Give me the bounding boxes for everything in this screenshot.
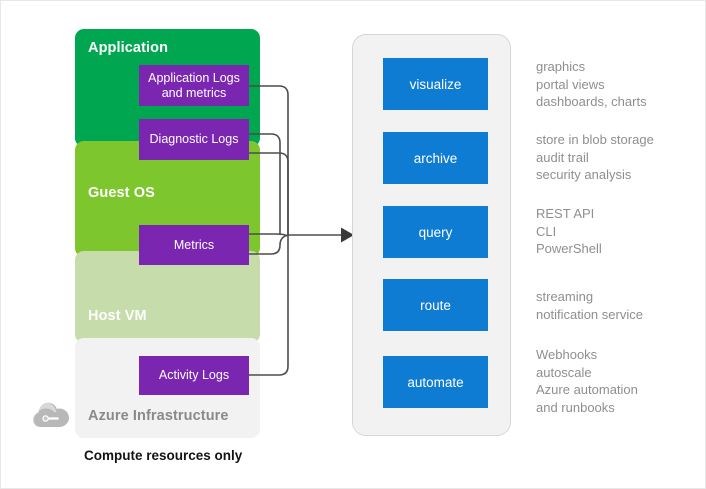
source-box-application-logs-label: Application Logs and metrics [143, 71, 245, 101]
description-visualize: graphics portal views dashboards, charts [536, 58, 647, 111]
action-box-route[interactable]: route [383, 279, 488, 331]
layer-application-label: Application [88, 40, 168, 56]
layer-azure-infrastructure-label: Azure Infrastructure [88, 408, 229, 424]
layer-host-vm-label: Host VM [88, 308, 147, 324]
action-box-visualize-label: visualize [410, 77, 462, 92]
cloud-icon [29, 397, 75, 429]
description-query: REST API CLI PowerShell [536, 205, 602, 258]
source-box-metrics-label: Metrics [174, 238, 214, 253]
source-box-activity-logs[interactable]: Activity Logs [139, 356, 249, 395]
action-box-query[interactable]: query [383, 206, 488, 258]
action-box-query-label: query [419, 225, 453, 240]
action-box-automate[interactable]: automate [383, 356, 488, 408]
source-box-diagnostic-logs[interactable]: Diagnostic Logs [139, 119, 249, 160]
action-box-archive-label: archive [414, 151, 458, 166]
description-route: streaming notification service [536, 288, 643, 323]
action-box-visualize[interactable]: visualize [383, 58, 488, 110]
action-box-archive[interactable]: archive [383, 132, 488, 184]
action-box-route-label: route [420, 298, 451, 313]
source-box-application-logs[interactable]: Application Logs and metrics [139, 65, 249, 106]
footnote-compute-resources: Compute resources only [84, 448, 242, 463]
description-archive: store in blob storage audit trail securi… [536, 131, 654, 184]
source-box-metrics[interactable]: Metrics [139, 225, 249, 265]
source-box-diagnostic-logs-label: Diagnostic Logs [150, 132, 239, 147]
description-automate: Webhooks autoscale Azure automation and … [536, 346, 638, 416]
source-box-activity-logs-label: Activity Logs [159, 368, 229, 383]
diagram-canvas: Application Guest OS Host VM Azure Infra… [0, 0, 706, 489]
action-box-automate-label: automate [407, 375, 463, 390]
layer-guest-os-label: Guest OS [88, 185, 155, 201]
